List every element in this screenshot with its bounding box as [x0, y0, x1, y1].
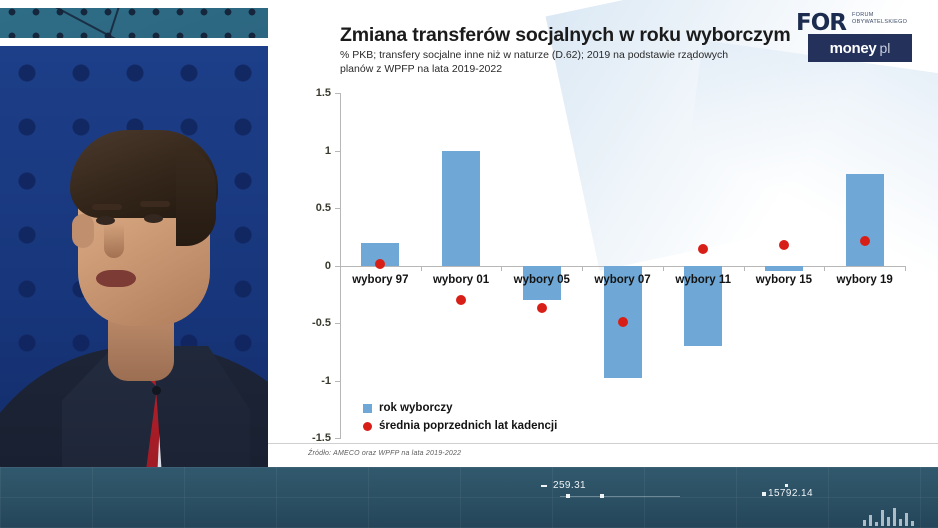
x-tick [340, 266, 341, 271]
ticker-mini-bars [863, 506, 914, 526]
anchor-ear [72, 214, 94, 248]
x-tick [744, 266, 745, 271]
x-axis-label: wybory 01 [433, 274, 489, 286]
bar-wybory-01 [442, 151, 480, 266]
legend-item-scatter: średnia poprzednich lat kadencji [363, 417, 557, 435]
chart-legend: rok wyborczy średnia poprzednich lat kad… [363, 399, 557, 435]
for-sub-line-1: FORUM [852, 12, 907, 19]
anchor-eyebrow-left [92, 204, 122, 210]
legend-label-scatter: średnia poprzednich lat kadencji [379, 420, 557, 432]
ticker-marker-right [762, 492, 766, 496]
anchor-nose [104, 224, 124, 258]
ticker-trend-line [560, 496, 680, 497]
dot-wybory-11 [698, 244, 708, 254]
y-tick [335, 151, 341, 152]
y-tick-label: -0.5 [312, 317, 331, 329]
anchor-eye-right [144, 214, 163, 223]
y-tick-label: 0 [325, 260, 331, 272]
bar-wybory-19 [846, 174, 884, 266]
anchor-lapel-microphone [152, 386, 161, 395]
x-axis-label: wybory 11 [675, 274, 731, 286]
dot-wybory-19 [860, 236, 870, 246]
chart-subtitle: % PKB; transfery socjalne inne niż w nat… [340, 48, 750, 76]
y-tick-label: 0.5 [316, 202, 331, 214]
dot-wybory-07 [618, 317, 628, 327]
overlay-strip-top [0, 0, 270, 8]
anchor-mouth [96, 270, 136, 287]
ticker-value-right: 15792.14 [768, 488, 813, 499]
ticker-marker-top [785, 484, 788, 487]
dot-wybory-05 [537, 303, 547, 313]
legend-dot-icon [363, 422, 372, 431]
anchor-eyebrow-right [140, 201, 170, 207]
y-tick [335, 208, 341, 209]
y-tick [335, 323, 341, 324]
x-tick [582, 266, 583, 271]
y-tick [335, 93, 341, 94]
legend-item-bar: rok wyborczy [363, 399, 557, 417]
legend-square-icon [363, 404, 372, 413]
ticker-point-a [566, 494, 570, 498]
for-logo-subtitle: FORUM OBYWATELSKIEGO [852, 12, 907, 26]
y-tick-label: 1 [325, 145, 331, 157]
dot-wybory-01 [456, 295, 466, 305]
ticker-value-left: 259.31 [553, 480, 586, 491]
x-axis-label: wybory 19 [837, 274, 893, 286]
x-tick [663, 266, 664, 271]
chart-title: Zmiana transferów socjalnych w roku wybo… [340, 24, 790, 47]
x-tick [905, 266, 906, 271]
bar-wybory-15 [765, 266, 803, 272]
x-tick [421, 266, 422, 271]
x-axis-label: wybory 97 [352, 274, 408, 286]
y-tick-label: -1 [321, 375, 331, 387]
y-tick-label: 1.5 [316, 87, 331, 99]
ticker-point-b [600, 494, 604, 498]
market-ticker-band: 259.31 15792.14 [0, 467, 938, 528]
dot-wybory-97 [375, 259, 385, 269]
x-tick [501, 266, 502, 271]
dot-wybory-15 [779, 240, 789, 250]
ticker-dash-left [541, 485, 547, 487]
chart-source-note: Źródło: AMECO oraz WPFP na lata 2019-202… [308, 450, 461, 457]
y-tick [335, 381, 341, 382]
for-logo: FOR [796, 10, 846, 36]
news-anchor [0, 46, 300, 528]
x-axis-label: wybory 15 [756, 274, 812, 286]
x-axis-label: wybory 07 [594, 274, 650, 286]
x-axis-label: wybory 05 [514, 274, 570, 286]
moneypl-logo-secondary: pl [879, 40, 890, 56]
card-divider [268, 443, 938, 444]
y-tick [335, 438, 341, 439]
moneypl-logo: money pl [808, 34, 912, 62]
logo-group: FOR FORUM OBYWATELSKIEGO money pl [780, 8, 930, 64]
legend-label-bar: rok wyborczy [379, 402, 453, 414]
for-sub-line-2: OBYWATELSKIEGO [852, 19, 907, 26]
chart-plot-area: 1.510.50-0.5-1-1.5 wybory 97wybory 01wyb… [340, 93, 905, 438]
x-tick [824, 266, 825, 271]
chart-graphic-panel: Zmiana transferów socjalnych w roku wybo… [268, 0, 938, 467]
moneypl-logo-primary: money [830, 40, 877, 57]
